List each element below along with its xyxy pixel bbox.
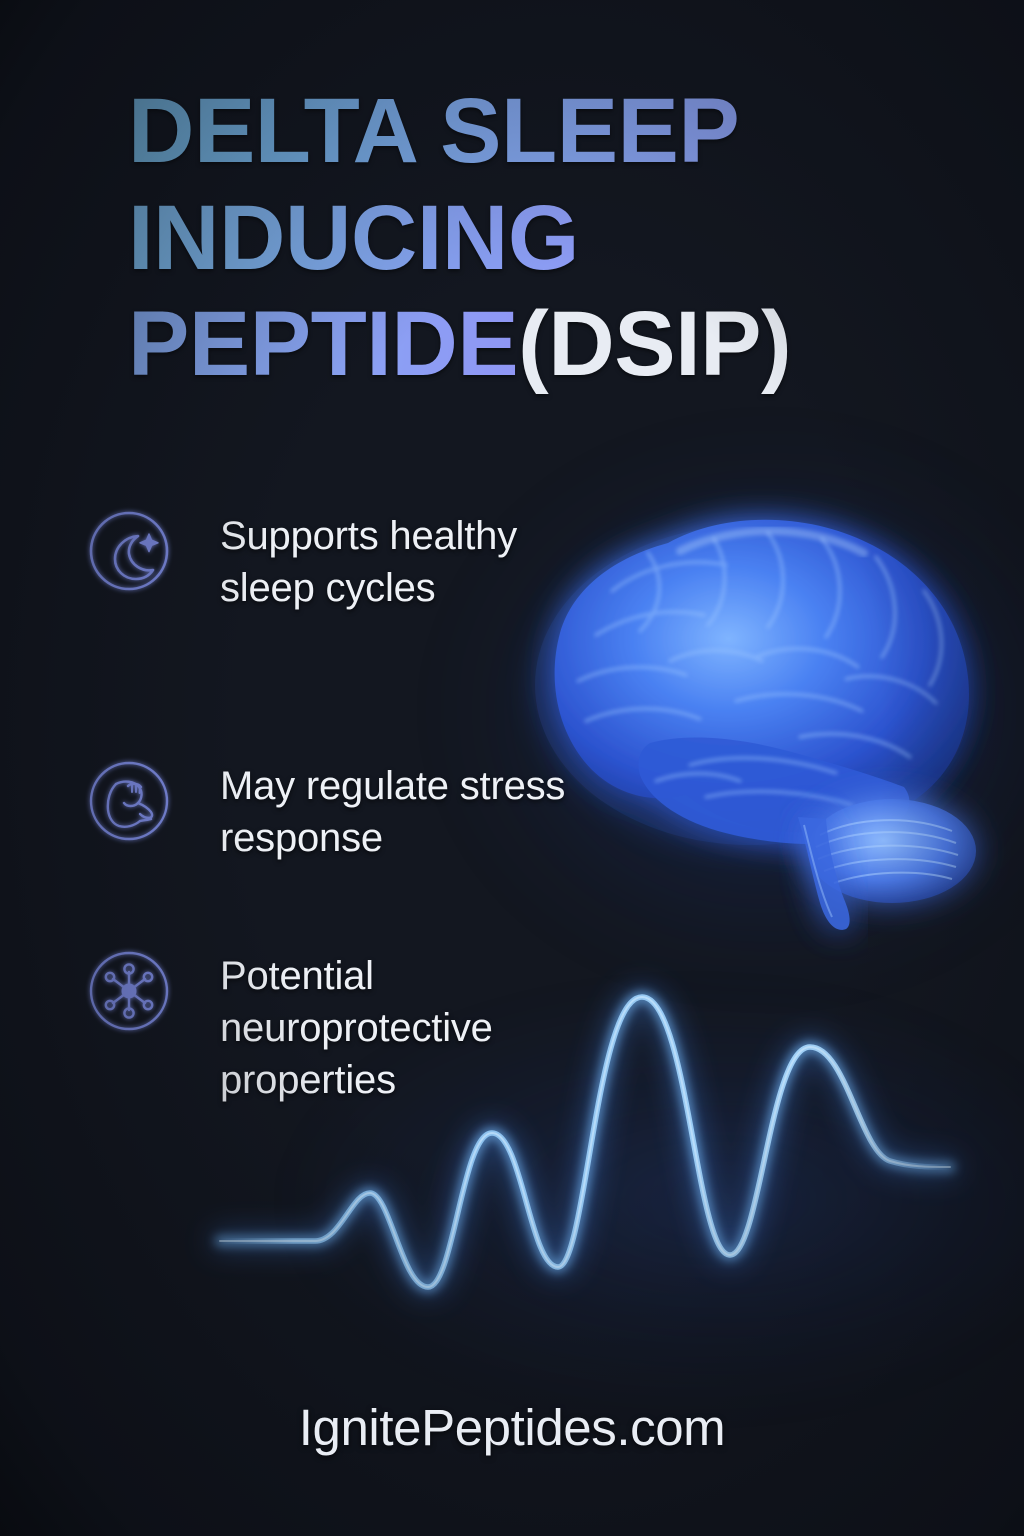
- moon-star-icon: [86, 508, 172, 594]
- title-abbreviation: (DSIP): [518, 291, 791, 398]
- poster-title: DELTA SLEEP INDUCING PEPTIDE(DSIP): [128, 78, 928, 398]
- title-line-1: DELTA SLEEP: [128, 78, 928, 185]
- benefit-text-stress: May regulate stress response: [220, 758, 620, 864]
- delta-brainwave-illustration: [210, 955, 1000, 1305]
- title-line-2: INDUCING: [128, 185, 928, 292]
- benefit-text-sleep: Supports healthy sleep cycles: [220, 508, 520, 614]
- benefit-item-stress: May regulate stress response: [86, 758, 620, 864]
- benefit-item-sleep: Supports healthy sleep cycles: [86, 508, 520, 614]
- title-line-1-text: DELTA SLEEP: [128, 78, 739, 185]
- title-line-3: PEPTIDE(DSIP): [128, 291, 928, 398]
- title-line-2-text: INDUCING: [128, 185, 579, 292]
- flexed-bicep-icon: [86, 758, 172, 844]
- title-peptide-text: PEPTIDE: [128, 291, 518, 398]
- website-footer[interactable]: IgnitePeptides.com: [0, 1398, 1024, 1457]
- neural-network-icon: [86, 948, 172, 1034]
- infographic-poster: DELTA SLEEP INDUCING PEPTIDE(DSIP): [0, 0, 1024, 1536]
